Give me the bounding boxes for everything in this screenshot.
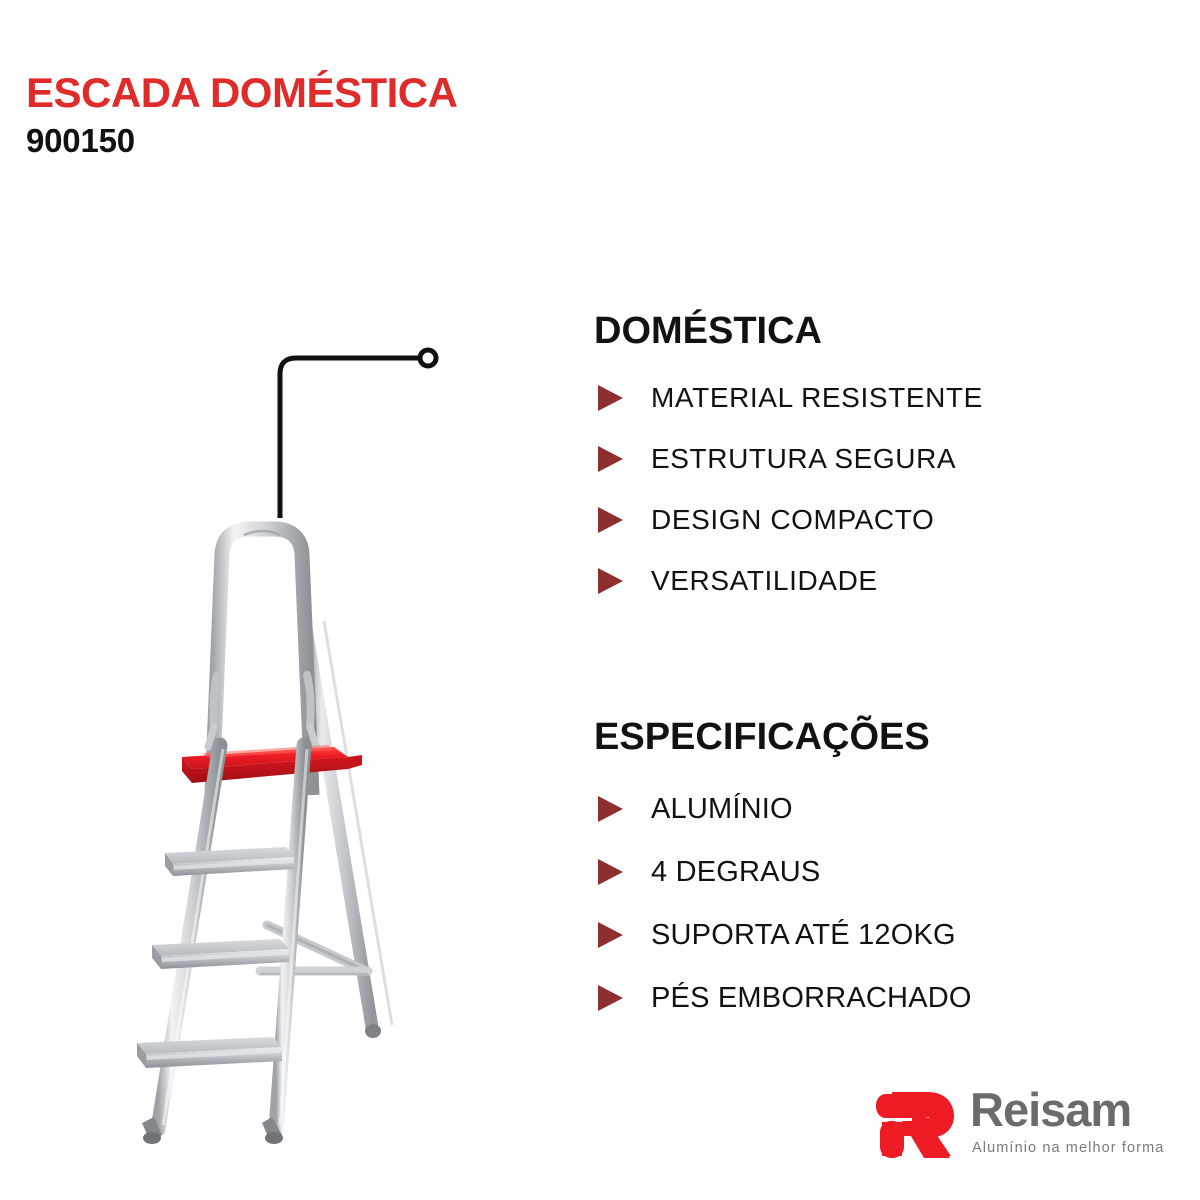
ladder-step — [137, 1037, 282, 1068]
list-item: ESTRUTURA SEGURA — [594, 429, 1134, 490]
list-item-label: VERSATILIDADE — [651, 565, 878, 597]
section-heading-especificacoes: ESPECIFICAÇÕES — [594, 718, 1134, 758]
product-image-ladder — [62, 495, 482, 1175]
section-heading-domestica: DOMÉSTICA — [594, 312, 1134, 352]
list-item: SUPORTA ATÉ 12OKG — [594, 904, 1134, 967]
triangle-bullet-icon — [598, 385, 623, 411]
triangle-bullet-icon — [598, 507, 623, 533]
list-item: MATERIAL RESISTENTE — [594, 368, 1134, 429]
header: ESCADA DOMÉSTICA 900150 — [26, 72, 646, 157]
product-code: 900150 — [26, 124, 646, 157]
ladder-front-stiles — [158, 745, 307, 1129]
triangle-bullet-icon — [598, 922, 623, 948]
list-item: 4 DEGRAUS — [594, 841, 1134, 904]
triangle-bullet-icon — [598, 859, 623, 885]
logo-tagline: Alumínio na melhor forma — [972, 1140, 1164, 1156]
list-item-label: ESTRUTURA SEGURA — [651, 443, 956, 475]
triangle-bullet-icon — [598, 985, 623, 1011]
list-item-label: 4 DEGRAUS — [651, 856, 820, 889]
triangle-bullet-icon — [598, 796, 623, 822]
ladder-inner-braces — [208, 675, 316, 747]
reisam-r-logo-icon — [872, 1088, 956, 1164]
logo-text-block: Reisam Alumínio na melhor forma — [970, 1086, 1164, 1156]
list-item: PÉS EMBORRACHADO — [594, 967, 1134, 1030]
list-item-label: PÉS EMBORRACHADO — [651, 982, 972, 1015]
ladder-step — [152, 939, 289, 969]
list-item: VERSATILIDADE — [594, 551, 1134, 612]
callout-line — [258, 330, 448, 520]
info-column: DOMÉSTICA MATERIAL RESISTENTE ESTRUTURA … — [594, 312, 1134, 1030]
ladder-step — [165, 847, 294, 876]
list-item-label: ALUMÍNIO — [651, 793, 793, 826]
page-title: ESCADA DOMÉSTICA — [26, 72, 646, 114]
list-item-label: DESIGN COMPACTO — [651, 504, 934, 536]
list-item: ALUMÍNIO — [594, 778, 1134, 841]
feature-group-domestica: DOMÉSTICA MATERIAL RESISTENTE ESTRUTURA … — [594, 312, 1134, 612]
specification-list: ALUMÍNIO 4 DEGRAUS SUPORTA ATÉ 12OKG PÉS… — [594, 778, 1134, 1030]
list-item: DESIGN COMPACTO — [594, 490, 1134, 551]
logo-wordmark: Reisam — [970, 1086, 1164, 1133]
ladder-steps — [137, 847, 294, 1068]
feature-list: MATERIAL RESISTENTE ESTRUTURA SEGURA DES… — [594, 368, 1134, 612]
feature-group-especificacoes: ESPECIFICAÇÕES ALUMÍNIO 4 DEGRAUS SUPORT… — [594, 718, 1134, 1030]
triangle-bullet-icon — [598, 446, 623, 472]
triangle-bullet-icon — [598, 568, 623, 594]
brand-logo: Reisam Alumínio na melhor forma — [872, 1086, 1176, 1186]
list-item-label: MATERIAL RESISTENTE — [651, 382, 983, 414]
infographic-page: ESCADA DOMÉSTICA 900150 — [0, 0, 1200, 1200]
list-item-label: SUPORTA ATÉ 12OKG — [651, 919, 956, 952]
